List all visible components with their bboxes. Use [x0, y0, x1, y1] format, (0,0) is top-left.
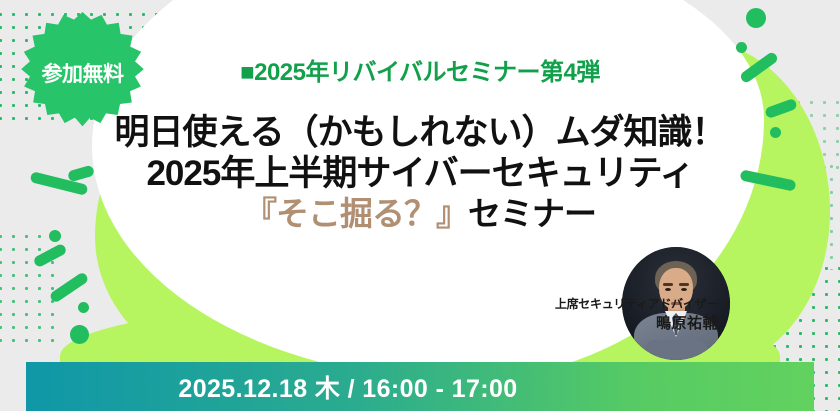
- portrait-eye-right: [681, 288, 687, 291]
- headline-seminar-part: セミナー: [468, 195, 596, 232]
- portrait-folded-arms: [644, 340, 708, 360]
- free-admission-badge: 参加無料: [16, 12, 149, 137]
- free-admission-label: 参加無料: [42, 58, 124, 88]
- seminar-banner: 参加無料 ■2025年リバイバルセミナー第4弾 明日使える（かもしれない）ムダ知…: [0, 0, 840, 411]
- speaker-role: 上席セキュリティアドバイザー: [555, 296, 718, 313]
- speaker-name: 鴫原祐輔: [555, 313, 718, 335]
- headline-line-2: 2025年上半期サイバーセキュリティ: [0, 153, 840, 194]
- date-time-bar: 2025.12.18 木 / 16:00 - 17:00: [26, 362, 814, 411]
- series-eyebrow-text: 2025年リバイバルセミナー第4弾: [254, 59, 600, 86]
- speaker-info: 上席セキュリティアドバイザー 鴫原祐輔: [555, 296, 718, 335]
- date-time-text: 2025.12.18 木 / 16:00 - 17:00: [178, 369, 517, 405]
- headline-line-3: 『そこ掘る？』セミナー: [0, 195, 840, 234]
- portrait-brow-right: [679, 283, 689, 286]
- headline-quoted-part: 『そこ掘る？』: [244, 195, 468, 232]
- portrait-brow-left: [663, 283, 673, 286]
- square-marker-icon: ■: [240, 59, 254, 86]
- portrait-eye-left: [665, 288, 671, 291]
